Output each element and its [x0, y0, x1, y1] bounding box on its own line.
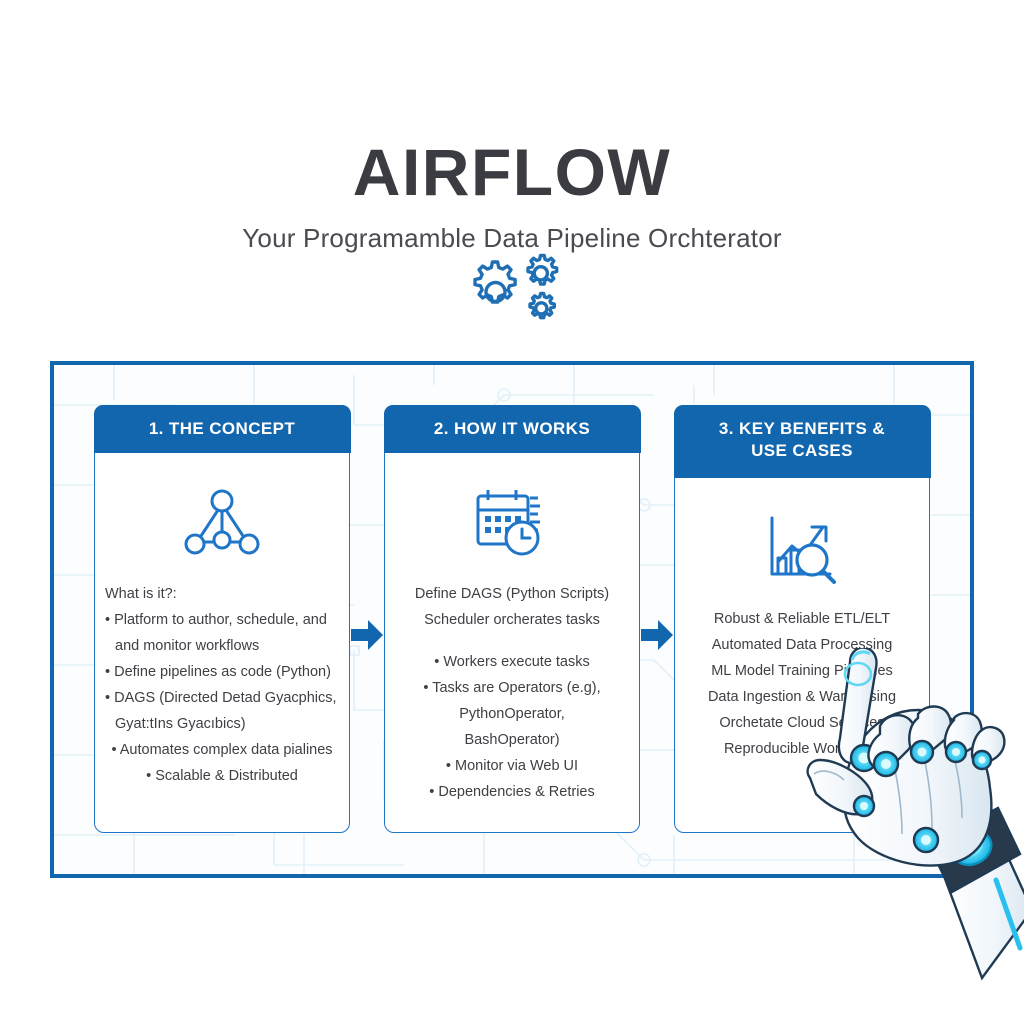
gears-icon: [462, 253, 562, 329]
panel-card-how-it-works[interactable]: 2. HOW IT WORKS: [384, 405, 640, 833]
panel-card-concept[interactable]: 1. THE CONCEPT: [94, 405, 350, 833]
list-item: • Workers execute tasks: [395, 651, 629, 673]
network-graph-icon-wrapper: [183, 477, 261, 569]
arrow-right-icon: [641, 620, 673, 650]
list-item: • Tasks are Operators (e.g),: [395, 677, 629, 699]
spacer: [395, 635, 629, 651]
panel-body-how-it-works: Define DAGS (Python Scripts) Scheduler o…: [385, 453, 639, 833]
robot-hand-pointing-icon: [806, 648, 1024, 1028]
list-item: BashOperator): [395, 729, 629, 751]
panel-header-line1: 3. KEY BENEFITS &: [719, 419, 885, 438]
panel-lines-concept: What is it?: • Platform to author, sched…: [105, 583, 339, 791]
network-graph-icon: [183, 487, 261, 559]
panel-header-how-it-works: 2. HOW IT WORKS: [384, 405, 641, 453]
arrow-works-to-benefits: [640, 620, 674, 650]
panel-header-key-benefits: 3. KEY BENEFITS & USE CASES: [674, 405, 931, 478]
list-item: PythonOperator,: [395, 703, 629, 725]
calendar-clock-icon: [470, 486, 554, 560]
list-item: • Automates complex data pialines: [105, 739, 339, 761]
panel-header-concept: 1. THE CONCEPT: [94, 405, 351, 453]
page-title: AIRFLOW: [0, 0, 1024, 205]
list-item: Gyat:tIns Gyacıbics): [105, 713, 339, 735]
list-item: • Define pipelines as code (Python): [105, 661, 339, 683]
list-item: • Dependencies & Retries: [395, 781, 629, 803]
page-subtitle: Your Programamble Data Pipeline Orchtera…: [0, 205, 1024, 253]
list-item: and monitor workflows: [105, 635, 339, 657]
chart-magnifier-icon-wrapper: [762, 502, 842, 594]
arrow-concept-to-works: [350, 620, 384, 650]
panel-header-line2: USE CASES: [751, 441, 853, 460]
list-item: • Scalable & Distributed: [105, 765, 339, 787]
list-item: • Monitor via Web UI: [395, 755, 629, 777]
chart-magnifier-icon: [762, 510, 842, 586]
arrow-right-icon: [351, 620, 383, 650]
gears-icon-wrapper: [0, 253, 1024, 334]
panel-lines-how-it-works: Define DAGS (Python Scripts) Scheduler o…: [395, 583, 629, 807]
list-item: • DAGS (Directed Detad Gyacphics,: [105, 687, 339, 709]
header: AIRFLOW Your Programamble Data Pipeline …: [0, 0, 1024, 253]
list-item: Robust & Reliable ETL/ELT: [685, 608, 919, 630]
list-item: What is it?:: [105, 583, 339, 605]
list-item: Scheduler orcherates tasks: [395, 609, 629, 631]
panel-body-concept: What is it?: • Platform to author, sched…: [95, 453, 349, 833]
list-item: Define DAGS (Python Scripts): [395, 583, 629, 605]
infographic-canvas: AIRFLOW Your Programamble Data Pipeline …: [0, 0, 1024, 1024]
list-item: • Platform to author, schedule, and: [105, 609, 339, 631]
calendar-clock-icon-wrapper: [470, 477, 554, 569]
